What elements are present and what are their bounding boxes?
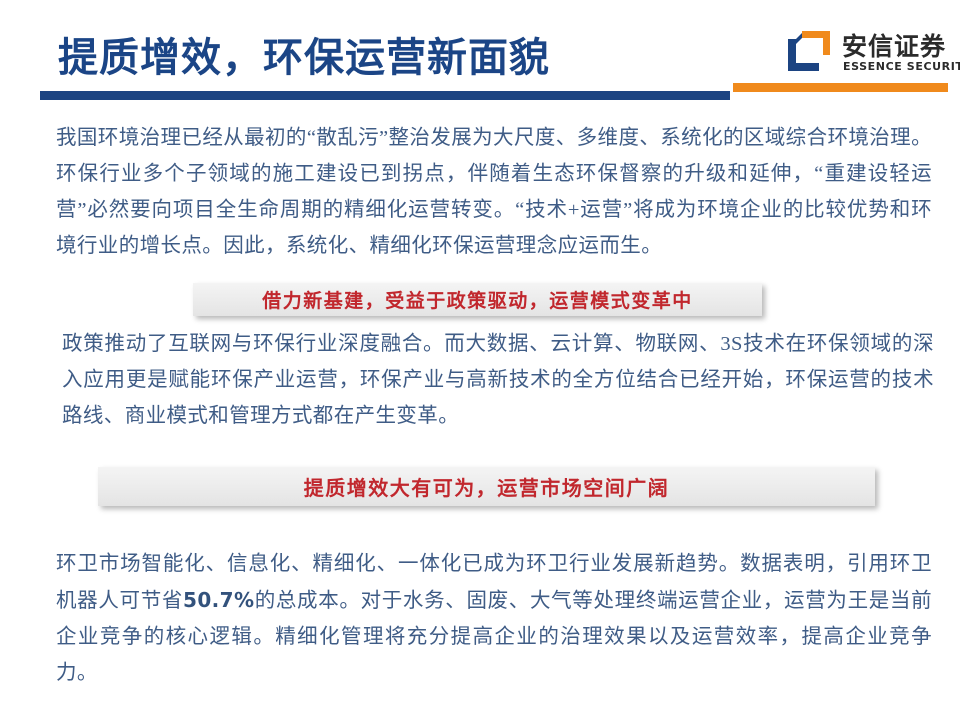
highlight-banner-1-label: 借力新基建，受益于政策驱动，运营模式变革中 bbox=[262, 286, 693, 313]
logo-chinese-name: 安信证券 bbox=[842, 27, 946, 63]
essence-cube-logo-icon bbox=[786, 29, 832, 73]
body-paragraph-2: 政策推动了互联网与环保行业深度融合。而大数据、云计算、物联网、3S技术在环保领域… bbox=[62, 326, 934, 434]
title-underline-blue bbox=[40, 91, 730, 100]
logo-english-name: ESSENCE SECURITIES bbox=[843, 60, 960, 73]
cost-saving-figure: 50.7% bbox=[183, 588, 254, 612]
slide-root: 提质增效，环保运营新面貌 安信证券 ESSENCE SECURITIES 我国环… bbox=[0, 0, 960, 720]
brand-logo: 安信证券 ESSENCE SECURITIES bbox=[786, 27, 954, 79]
title-accent-orange bbox=[733, 83, 948, 92]
highlight-banner-2: 提质增效大有可为，运营市场空间广阔 bbox=[98, 467, 875, 506]
highlight-banner-1: 借力新基建，受益于政策驱动，运营模式变革中 bbox=[193, 283, 762, 316]
body-paragraph-1: 我国环境治理已经从最初的“散乱污”整治发展为大尺度、多维度、系统化的区域综合环境… bbox=[56, 120, 932, 264]
body-paragraph-3: 环卫市场智能化、信息化、精细化、一体化已成为环卫行业发展新趋势。数据表明，引用环… bbox=[56, 546, 932, 691]
page-title: 提质增效，环保运营新面貌 bbox=[58, 36, 550, 80]
highlight-banner-2-label: 提质增效大有可为，运营市场空间广阔 bbox=[304, 472, 670, 501]
